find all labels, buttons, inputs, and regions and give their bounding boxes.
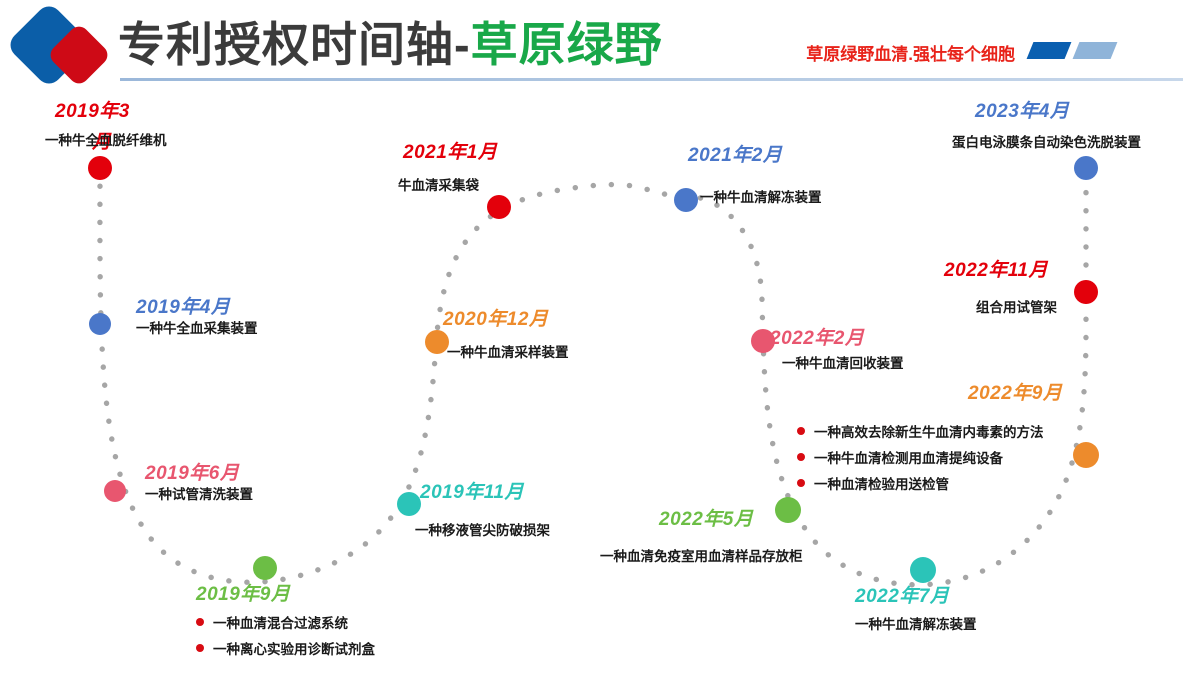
timeline-event-e4: 2019年9月 一种血清混合过滤系统 一种离心实验用诊断试剂盒 [196,583,375,658]
bullet-dot-icon [797,479,805,487]
timeline-desc-e8-wrap: 一种牛血清解冻装置 [700,188,822,207]
bullet-text: 一种牛血清检测用血清提纯设备 [814,447,1003,467]
timeline-event-e5: 2019年11月 [420,481,524,504]
timeline-date-e3: 2019年6月 [145,462,253,485]
timeline-desc-e5: 一种移液管尖防破损架 [415,521,550,540]
timeline-date-e11: 2022年7月 [855,585,977,608]
timeline-event-e7: 2021年1月 [403,141,497,164]
timeline-node-e10[interactable] [775,497,801,523]
bullet-text: 一种血清混合过滤系统 [213,612,348,632]
timeline-event-e3: 2019年6月 一种试管清洗装置 [145,462,253,504]
timeline-node-e12[interactable] [1073,442,1099,468]
timeline-event-e10: 2022年5月 [659,508,753,531]
timeline-node-e7[interactable] [487,195,511,219]
timeline-node-e6[interactable] [425,330,449,354]
timeline-date-e4: 2019年9月 [196,583,375,606]
timeline-desc-e1-wrap: 一种牛全血脱纤维机 [45,131,167,150]
timeline-desc-e14-wrap: 蛋白电泳膜条自动染色洗脱装置 [952,133,1141,152]
timeline-date-e5: 2019年11月 [420,481,524,504]
timeline-event-e2: 2019年4月 一种牛全血采集装置 [136,296,258,338]
timeline-date-e8: 2021年2月 [688,144,782,167]
timeline-bullets-e4: 一种血清混合过滤系统 一种离心实验用诊断试剂盒 [196,612,375,658]
timeline-event-e13: 2022年11月 [944,259,1048,282]
list-item: 一种高效去除新生牛血清内毒素的方法 [797,421,1044,441]
timeline-date-e9: 2022年2月 [770,327,864,350]
timeline-bullets-e12: 一种高效去除新生牛血清内毒素的方法 一种牛血清检测用血清提纯设备 一种血清检验用… [797,421,1044,493]
timeline-node-e3[interactable] [104,480,126,502]
timeline-desc-e2: 一种牛全血采集装置 [136,319,258,338]
timeline-desc-e7-wrap: 牛血清采集袋 [398,176,479,195]
timeline-desc-e1: 一种牛全血脱纤维机 [45,131,167,150]
timeline-date-e6: 2020年12月 [443,308,548,331]
timeline-desc-e9-wrap: 一种牛血清回收装置 [782,354,904,373]
timeline-date-e12: 2022年9月 [968,382,1062,405]
timeline-desc-e5-wrap: 一种移液管尖防破损架 [415,521,550,540]
timeline-node-e8[interactable] [674,188,698,212]
timeline-event-e8: 2021年2月 [688,144,782,167]
timeline-desc-e6-wrap: 一种牛血清采样装置 [447,343,569,362]
bullet-text: 一种血清检验用送检管 [814,473,949,493]
bullet-dot-icon [196,644,204,652]
bullet-text: 一种高效去除新生牛血清内毒素的方法 [814,421,1044,441]
list-item: 一种牛血清检测用血清提纯设备 [797,447,1044,467]
timeline-node-e14[interactable] [1074,156,1098,180]
timeline-node-e5[interactable] [397,492,421,516]
timeline-desc-e10-wrap: 一种血清免疫室用血清样品存放柜 [600,547,803,566]
timeline-node-e13[interactable] [1074,280,1098,304]
timeline-desc-e13-wrap: 组合用试管架 [976,298,1057,317]
list-item: 一种血清检验用送检管 [797,473,1044,493]
timeline-event-e9: 2022年2月 [770,327,864,350]
bullet-dot-icon [797,427,805,435]
timeline-desc-e10: 一种血清免疫室用血清样品存放柜 [600,547,803,566]
timeline-infographic: 专利授权时间轴-草原绿野 草原绿野血清.强壮每个细胞 2019年3 月 一种牛全… [0,0,1200,675]
timeline-desc-e8: 一种牛血清解冻装置 [700,188,822,207]
timeline-desc-e11: 一种牛血清解冻装置 [855,615,977,634]
timeline-date-e14: 2023年4月 [975,100,1069,123]
timeline-event-e11: 2022年7月 一种牛血清解冻装置 [855,585,977,634]
timeline-node-e4[interactable] [253,556,277,580]
timeline-date-e10: 2022年5月 [659,508,753,531]
timeline-desc-e9: 一种牛血清回收装置 [782,354,904,373]
timeline-bullets-e12-wrap: 一种高效去除新生牛血清内毒素的方法 一种牛血清检测用血清提纯设备 一种血清检验用… [797,415,1044,493]
timeline-desc-e3: 一种试管清洗装置 [145,485,253,504]
timeline-date-e7: 2021年1月 [403,141,497,164]
bullet-dot-icon [797,453,805,461]
timeline-desc-e6: 一种牛血清采样装置 [447,343,569,362]
list-item: 一种离心实验用诊断试剂盒 [196,638,375,658]
timeline-event-e12: 2022年9月 [968,382,1062,405]
timeline-node-e2[interactable] [89,313,111,335]
timeline-desc-e7: 牛血清采集袋 [398,176,479,195]
timeline-node-e11[interactable] [910,557,936,583]
timeline-desc-e14: 蛋白电泳膜条自动染色洗脱装置 [952,133,1141,152]
bullet-dot-icon [196,618,204,626]
timeline-date-e2: 2019年4月 [136,296,258,319]
bullet-text: 一种离心实验用诊断试剂盒 [213,638,375,658]
timeline-event-e6: 2020年12月 [443,308,548,331]
timeline-node-e1[interactable] [88,156,112,180]
timeline-desc-e13: 组合用试管架 [976,298,1057,317]
list-item: 一种血清混合过滤系统 [196,612,375,632]
timeline-event-e14: 2023年4月 [975,100,1069,123]
timeline-date-e1: 2019年3 [55,100,130,123]
timeline-date-e13: 2022年11月 [944,259,1048,282]
timeline-event-e1: 2019年3 [55,100,130,123]
